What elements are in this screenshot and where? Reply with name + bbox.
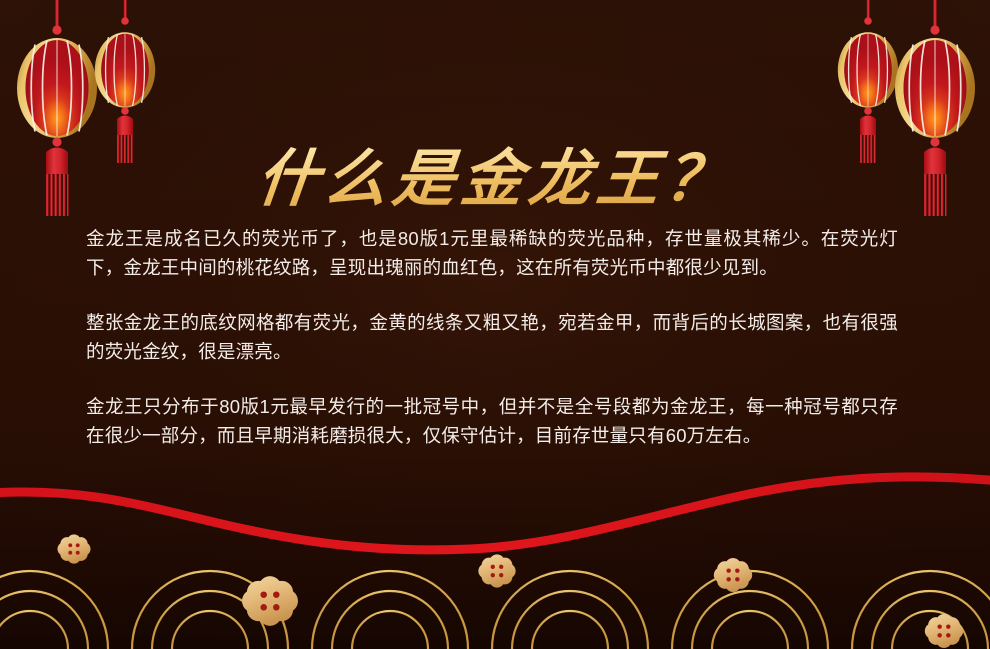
paragraph-1: 金龙王是成名已久的荧光币了，也是80版1元里最稀缺的荧光品种，存世量极其稀少。在… — [86, 224, 898, 282]
paragraph-3: 金龙王只分布于80版1元最早发行的一批冠号中，但并不是全号段都为金龙王，每一种冠… — [86, 392, 898, 450]
page-title: 什么是金龙王？ — [248, 146, 743, 211]
poster-root: 什么是金龙王？ 金龙王是成名已久的荧光币了，也是80版1元里最稀缺的荧光品种，存… — [0, 0, 990, 649]
paragraph-2: 整张金龙王的底纹网格都有荧光，金黄的线条又粗又艳，宛若金甲，而背后的长城图案，也… — [86, 308, 898, 366]
body-paragraphs: 金龙王是成名已久的荧光币了，也是80版1元里最稀缺的荧光品种，存世量极其稀少。在… — [86, 224, 898, 450]
